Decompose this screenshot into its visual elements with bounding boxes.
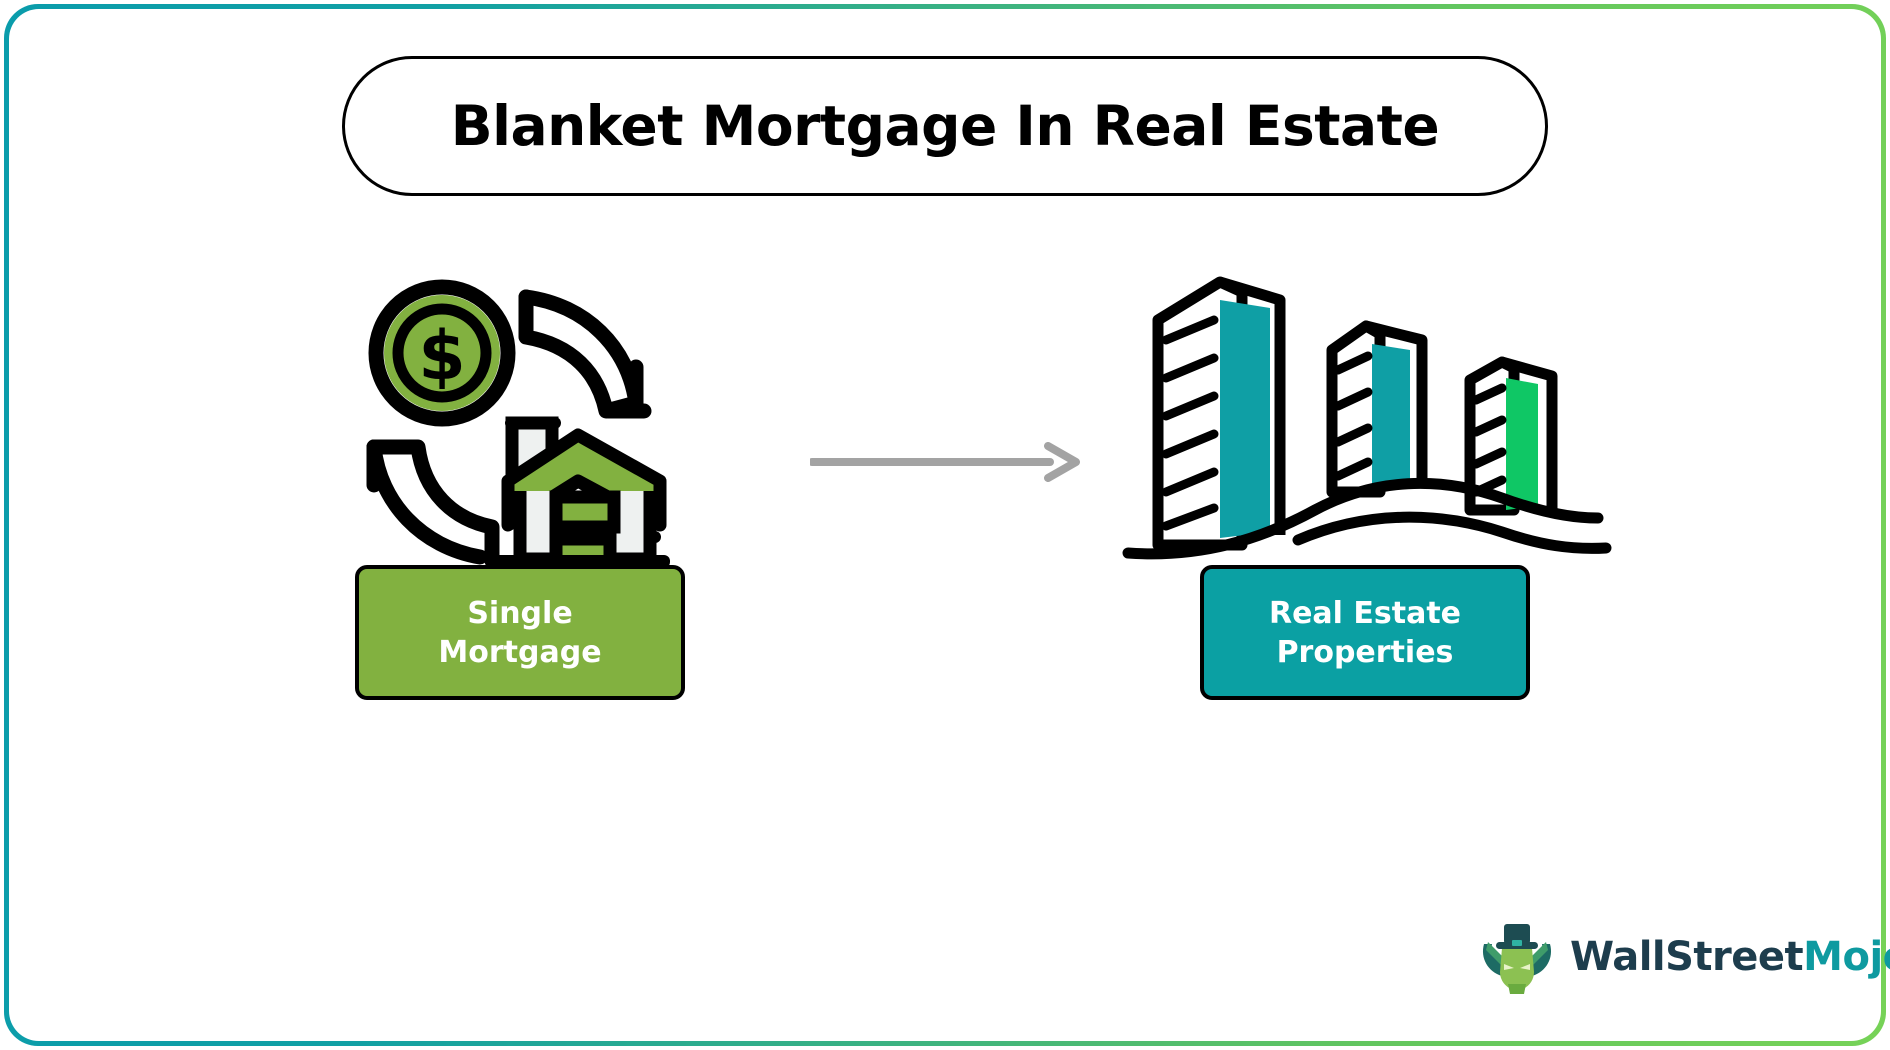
right-icon-wrap (1110, 265, 1620, 565)
city-buildings-icon (1110, 270, 1620, 565)
right-label-line1: Real Estate (1269, 594, 1461, 633)
logo-text-accent: Mojo (1803, 934, 1890, 980)
left-label-box: Single Mortgage (355, 565, 685, 700)
left-icon-wrap: $ (360, 265, 680, 565)
infographic-canvas: Blanket Mortgage In Real Estate $ (0, 0, 1890, 1050)
left-label-line1: Single (438, 594, 601, 633)
title-banner: Blanket Mortgage In Real Estate (342, 56, 1548, 196)
wallstreetmojo-bull-icon (1478, 920, 1556, 994)
logo-text-primary: WallStreet (1570, 934, 1803, 980)
logo-wordmark: WallStreetMojo (1570, 934, 1890, 980)
wallstreetmojo-logo[interactable]: WallStreetMojo (1478, 920, 1890, 994)
right-label-box: Real Estate Properties (1200, 565, 1530, 700)
svg-text:$: $ (418, 317, 465, 396)
right-label-line2: Properties (1269, 633, 1461, 672)
money-house-exchange-icon: $ (360, 275, 680, 565)
right-arrow-icon (810, 442, 1080, 482)
left-label-line2: Mortgage (438, 633, 601, 672)
left-block: $ (300, 265, 740, 700)
connector-arrow (810, 442, 1080, 482)
page-title: Blanket Mortgage In Real Estate (451, 94, 1439, 158)
right-block: Real Estate Properties (1130, 265, 1600, 700)
